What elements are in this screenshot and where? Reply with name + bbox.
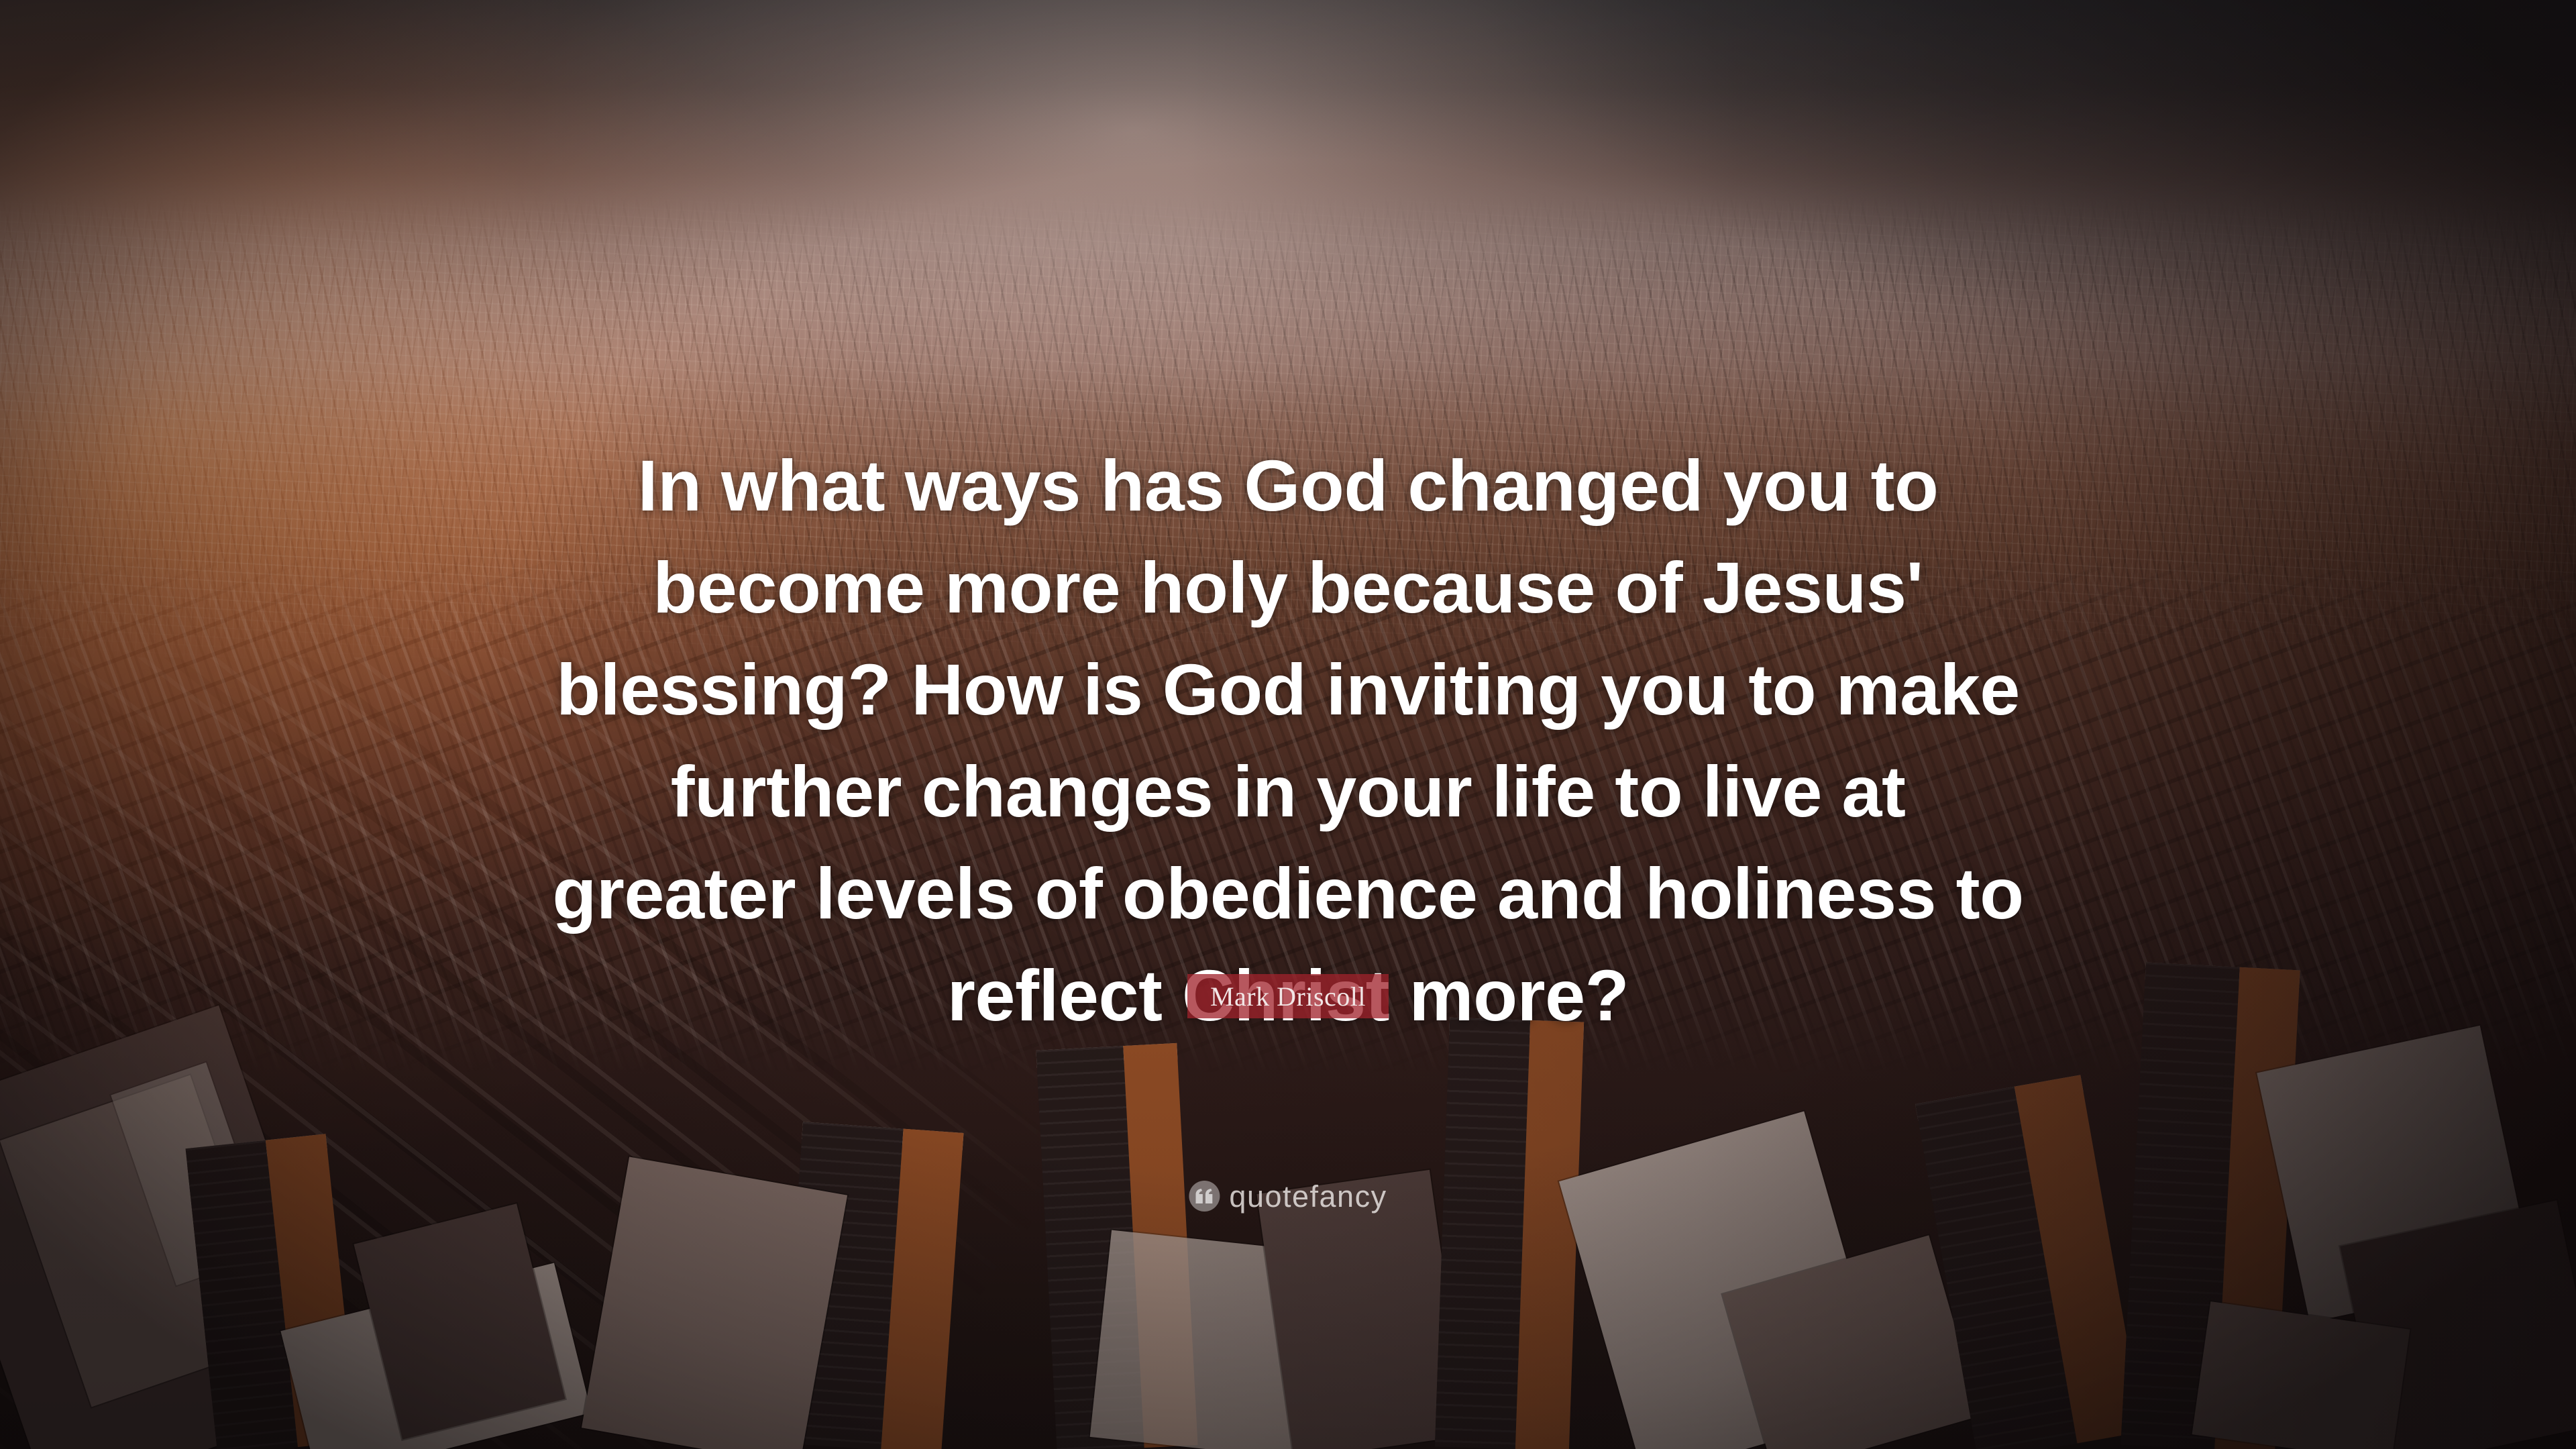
quotefancy-wordmark: quotefancy <box>1229 1181 1387 1212</box>
quotefancy-watermark[interactable]: quotefancy <box>1189 1181 1387 1212</box>
author-badge: Mark Driscoll <box>1187 974 1389 1018</box>
author-name: Mark Driscoll <box>1210 981 1366 1012</box>
poster-content: In what ways has God changed you to beco… <box>0 0 2576 1449</box>
quote-poster: In what ways has God changed you to beco… <box>0 0 2576 1449</box>
quotation-mark-icon <box>1189 1181 1220 1212</box>
quote-text: In what ways has God changed you to beco… <box>543 435 2033 1046</box>
